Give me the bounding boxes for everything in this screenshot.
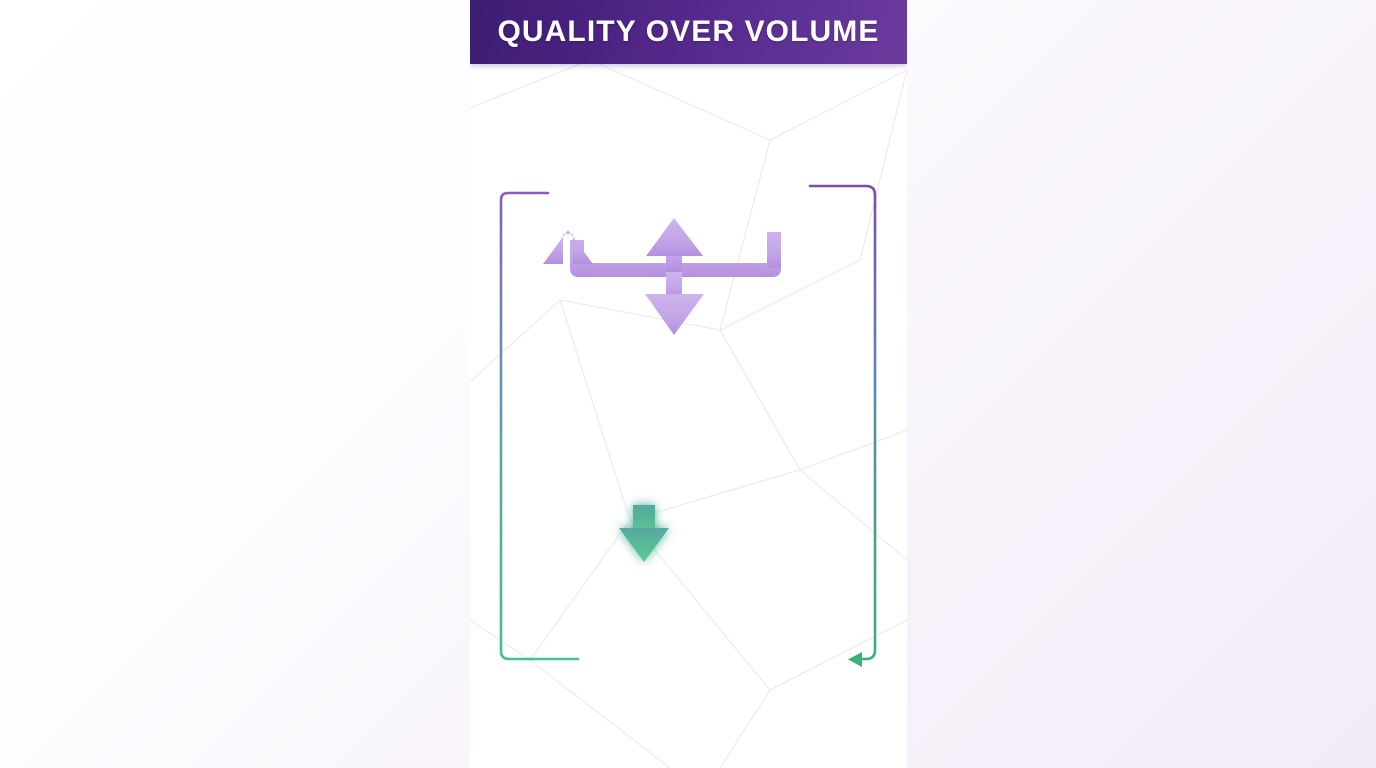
header-bar: QUALITY OVER VOLUME [470, 0, 907, 64]
page-title: QUALITY OVER VOLUME [497, 15, 879, 49]
stage2-to-stage3-arrow [619, 505, 669, 562]
infographic-canvas: QUALITY OVER VOLUME [0, 0, 1376, 768]
connector-arrow-layer [470, 0, 907, 768]
infographic-panel: QUALITY OVER VOLUME [470, 0, 907, 768]
right-loop-arrowhead [848, 652, 862, 667]
feedback-loop-layer [470, 0, 907, 768]
background-pattern [470, 0, 907, 768]
right-feedback-loop [810, 186, 875, 659]
stage1-branch-arrows [543, 218, 781, 335]
left-feedback-loop [501, 193, 578, 659]
